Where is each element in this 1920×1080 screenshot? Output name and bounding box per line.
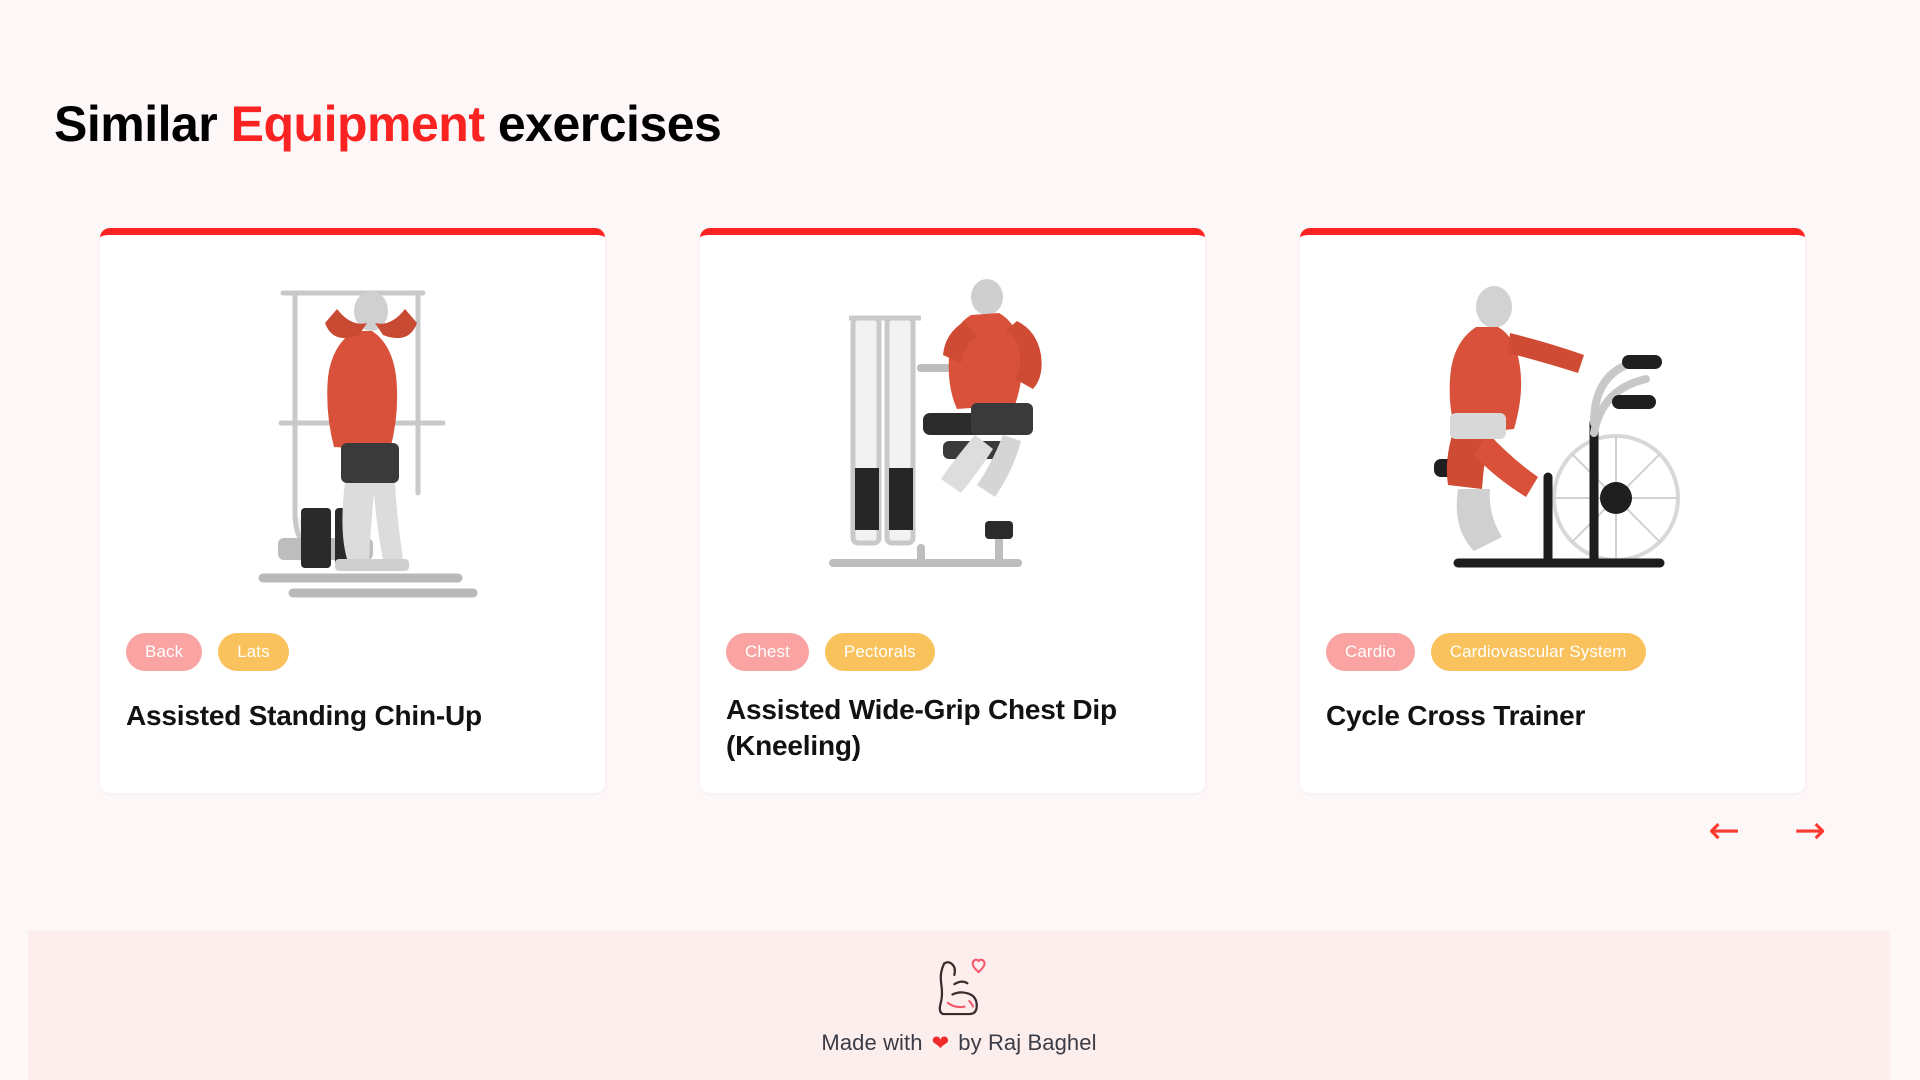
site-footer: Made with ❤ by Raj Baghel [28,930,1890,1080]
exercise-image [1300,235,1805,630]
tag-muscle[interactable]: Pectorals [825,633,935,671]
heart-icon: ❤ [932,1031,950,1055]
footer-made-with-label: Made with [821,1030,922,1056]
exercise-tags: Back Lats [100,632,605,672]
carousel-prev-arrow-icon[interactable]: ← [1702,810,1746,850]
cycle-cross-trainer-icon [1398,263,1708,603]
exercise-title: Cycle Cross Trainer [1300,698,1805,734]
assisted-dip-machine-icon [803,263,1103,603]
footer-credit: Made with ❤ by Raj Baghel [821,1030,1096,1056]
tag-muscle[interactable]: Lats [218,633,289,671]
page-title: Similar Equipment exercises [54,96,721,154]
flexed-biceps-heart-icon [931,956,987,1018]
page-title-part-before: Similar [54,96,231,152]
footer-author-label: by Raj Baghel [958,1030,1096,1056]
exercise-title: Assisted Wide-Grip Chest Dip (Kneeling) [700,692,1205,764]
tag-muscle[interactable]: Cardiovascular System [1431,633,1646,671]
exercise-image [700,235,1205,630]
exercise-image [100,235,605,630]
page-title-part-after: exercises [484,96,721,152]
page-title-accent: Equipment [231,96,485,152]
carousel-navigation: ← → [1702,810,1832,850]
assisted-chin-up-machine-icon [223,263,483,603]
exercise-card[interactable]: Cardio Cardiovascular System Cycle Cross… [1300,228,1805,793]
tag-bodypart[interactable]: Back [126,633,202,671]
similar-exercises-carousel: Back Lats Assisted Standing Chin-Up [100,228,1820,793]
exercise-tags: Cardio Cardiovascular System [1300,632,1805,672]
tag-bodypart[interactable]: Cardio [1326,633,1415,671]
exercise-card[interactable]: Chest Pectorals Assisted Wide-Grip Chest… [700,228,1205,793]
exercise-title: Assisted Standing Chin-Up [100,698,605,734]
carousel-next-arrow-icon[interactable]: → [1788,810,1832,850]
tag-bodypart[interactable]: Chest [726,633,809,671]
exercise-tags: Chest Pectorals [700,632,1205,672]
exercise-card[interactable]: Back Lats Assisted Standing Chin-Up [100,228,605,793]
